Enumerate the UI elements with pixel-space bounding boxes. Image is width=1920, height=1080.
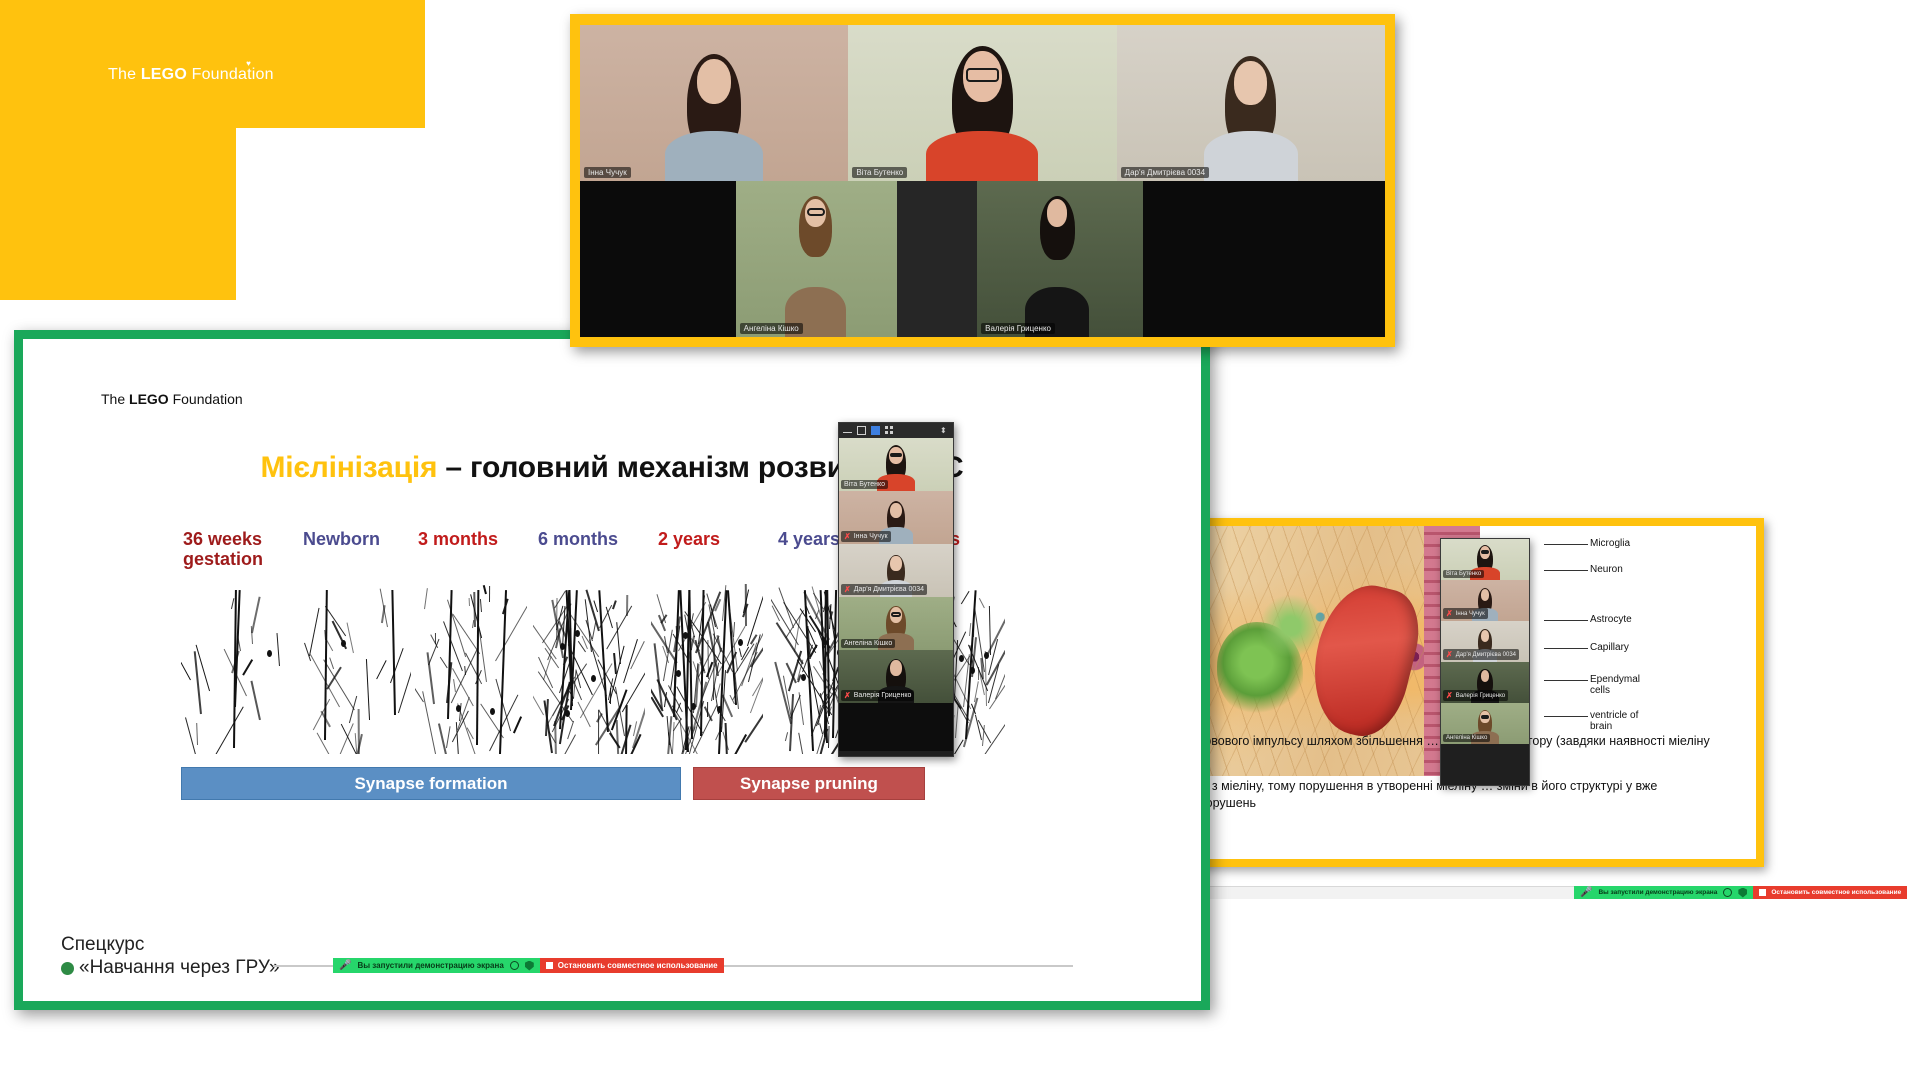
muted-microphone-icon: ✗	[844, 585, 851, 594]
age-label-4: 6 months	[538, 529, 618, 549]
dendrite-column-4	[533, 584, 645, 754]
stop-square-icon	[1759, 889, 1766, 896]
dendrite-column-1	[181, 584, 293, 754]
video-background	[1117, 181, 1144, 337]
diagram-label-5: Ependymalcells	[1590, 674, 1640, 696]
participant-video-frame	[848, 25, 1116, 181]
participant-name-label: Віта Бутенко	[841, 480, 888, 489]
face-shape	[697, 59, 731, 104]
participant-video-frame	[848, 181, 896, 337]
green-slide-paper: The LEGO Foundation Мієлінізація – голов…	[23, 339, 1201, 1001]
face-shape	[1047, 199, 1067, 227]
record-icon-2[interactable]	[510, 961, 519, 970]
logo-prefix-2: The	[101, 391, 129, 407]
muted-microphone-icon: ✗	[1446, 650, 1453, 659]
video-background	[848, 181, 896, 337]
torso-shape	[926, 131, 1038, 181]
participant-name-text: Ангеліна Кішко	[1446, 735, 1487, 741]
bullet-dot-icon-2	[61, 962, 74, 975]
face-shape	[1234, 61, 1267, 105]
eyeglasses-icon	[890, 453, 901, 458]
participant-name-text: Інна Чучук	[588, 168, 627, 177]
participant-name-text: Віта Бутенко	[844, 481, 885, 488]
participant-video-frame	[1117, 25, 1385, 181]
participant-name-text: Ангеліна Кішко	[744, 324, 799, 333]
logo-brand: LEGO	[141, 66, 187, 83]
gallery-view-window[interactable]: Інна ЧучукВіта БутенкоДар'я Дмитрієва 00…	[570, 14, 1395, 347]
filmstrip-tile[interactable]: ✗Інна Чучук	[1441, 580, 1529, 621]
diagram-label-3: Astrocyte	[1590, 614, 1632, 625]
age-label-5: 2 years	[658, 529, 720, 549]
participant-name-label: Ангеліна Кішко	[841, 639, 895, 648]
logo-prefix: The	[108, 66, 141, 83]
filmstrip-tile[interactable]: Ангеліна Кішко	[839, 597, 953, 650]
synapse-formation-label: Synapse formation	[354, 774, 507, 794]
video-tile-continued[interactable]	[1117, 181, 1144, 337]
lego-intro-slide: The LEGO Foundation	[0, 0, 425, 300]
diagram-label-6: ventricle ofbrain	[1590, 710, 1638, 732]
diagram-label-1: Microglia	[1590, 538, 1630, 549]
video-tile[interactable]: Ангеліна Кішко	[736, 181, 849, 337]
participant-name-text: Валерія Гриценко	[1456, 693, 1505, 699]
gallery-view-icon[interactable]	[885, 426, 894, 435]
filmstrip-tile[interactable]: ✗Дар'я Дмитрієва 0034	[839, 544, 953, 597]
record-icon[interactable]	[1723, 888, 1732, 897]
filmstrip-tile[interactable]: ✗Валерія Гриценко	[1441, 662, 1529, 703]
participant-name-label: ✗Дар'я Дмитрієва 0034	[1443, 649, 1519, 660]
video-tile[interactable]: Віта Бутенко	[848, 25, 1116, 181]
lego-foundation-logo-dark: The LEGO Foundation	[101, 391, 243, 407]
filmstrip-tile[interactable]: ✗Валерія Гриценко	[839, 650, 953, 703]
dendrite-column-3	[415, 584, 527, 754]
green-share-toolbar[interactable]: 🎤 Вы запустили демонстрацию экрана Остан…	[333, 958, 724, 973]
yellow-banner-leg	[0, 128, 236, 300]
participant-name-label: ✗Дар'я Дмитрієва 0034	[841, 584, 927, 595]
filmstrip-tile[interactable]: Віта Бутенко	[1441, 539, 1529, 580]
synapse-pruning-bar: Synapse pruning	[693, 767, 925, 800]
face-shape	[1481, 630, 1490, 642]
face-shape	[890, 503, 902, 518]
participant-name-text: Дар'я Дмитрієва 0034	[1125, 168, 1205, 177]
participant-name-text: Валерія Гриценко	[985, 324, 1051, 333]
page-title-accent: Мієлінізація	[260, 451, 437, 484]
participant-name-label: Валерія Гриценко	[981, 323, 1055, 334]
age-label-6: 4 years	[778, 529, 840, 549]
age-label-3: 3 months	[418, 529, 498, 549]
filmstrip-empty-tile[interactable]	[839, 703, 953, 751]
age-label-1: 36 weeksgestation	[183, 529, 263, 569]
participant-name-text: Валерія Гриценко	[854, 692, 912, 699]
face-shape	[1481, 589, 1490, 601]
video-tile[interactable]: Дар'я Дмитрієва 0034	[1117, 25, 1385, 181]
share-status-label: Вы запустили демонстрацию экрана	[1598, 889, 1717, 896]
stop-share-label-2: Остановить совместное использование	[558, 961, 718, 970]
eyeglasses-icon	[1481, 715, 1489, 719]
eyeglasses-icon	[807, 208, 825, 216]
dendrite-column-5	[651, 584, 763, 754]
muted-microphone-icon: ✗	[844, 691, 851, 700]
participant-name-label: Ангеліна Кішко	[740, 323, 803, 334]
window-icon[interactable]	[857, 426, 866, 435]
face-shape	[890, 556, 901, 571]
participant-name-label: Ангеліна Кішко	[1443, 734, 1490, 742]
participant-name-text: Дар'я Дмитрієва 0034	[854, 586, 924, 593]
participant-name-label: Віта Бутенко	[852, 167, 907, 178]
muted-microphone-icon: ✗	[1446, 691, 1453, 700]
participant-name-label: Віта Бутенко	[1443, 570, 1484, 578]
stop-share-button[interactable]: Остановить совместное использование	[1753, 886, 1907, 899]
logo-suffix-2: Foundation	[169, 391, 243, 407]
participant-name-text: Віта Бутенко	[856, 168, 903, 177]
microphone-icon: 🎤	[1580, 887, 1592, 898]
video-tile-continued[interactable]	[848, 181, 896, 337]
stop-share-label: Остановить совместное использование	[1771, 889, 1901, 896]
video-tile[interactable]: Валерія Гриценко	[977, 181, 1117, 337]
filmstrip-titlebar[interactable]: ⬍	[839, 423, 953, 438]
participant-name-label: ✗Інна Чучук	[1443, 608, 1488, 619]
yellow-banner-top	[0, 0, 425, 128]
torso-shape	[1204, 131, 1298, 181]
stop-share-button-2[interactable]: Остановить совместное использование	[540, 958, 724, 973]
face-shape	[890, 660, 902, 676]
filmstrip-tile[interactable]: ✗Інна Чучук	[839, 491, 953, 544]
video-tile[interactable]	[1117, 181, 1385, 337]
lego-foundation-logo: The LEGO Foundation	[108, 66, 274, 84]
shield-icon-2[interactable]	[525, 961, 534, 971]
participant-name-label: ✗Валерія Гриценко	[1443, 690, 1508, 701]
right-share-toolbar[interactable]: 🎤 Вы запустили демонстрацию экрана Остан…	[1574, 886, 1907, 899]
center-participants-filmstrip[interactable]: ⬍ Віта Бутенко✗Інна Чучук✗Дар'я Дмитрієв…	[838, 422, 954, 757]
footer-line-2b: «Навчання через ГРУ»	[79, 957, 280, 978]
video-tile[interactable]: Ангеліна Кішко	[580, 181, 848, 337]
filmstrip-tile[interactable]: Ангеліна Кішко	[1441, 703, 1529, 744]
speaker-view-icon[interactable]	[871, 426, 880, 435]
center-filmstrip-list: Віта Бутенко✗Інна Чучук✗Дар'я Дмитрієва …	[839, 438, 953, 751]
logo-brand-2: LEGO	[129, 391, 169, 407]
footer-line-1b: Спецкурс	[61, 933, 280, 956]
logo-suffix: Foundation	[187, 66, 274, 83]
age-label-2: Newborn	[303, 529, 380, 549]
muted-microphone-icon: ✗	[844, 532, 851, 541]
participant-video-frame	[736, 181, 849, 337]
eyeglasses-icon	[966, 68, 1000, 82]
minimize-icon[interactable]	[843, 428, 852, 433]
share-status-label-2: Вы запустили демонстрацию экрана	[357, 961, 503, 970]
participant-name-label: Дар'я Дмитрієва 0034	[1121, 167, 1209, 178]
participant-name-text: Віта Бутенко	[1446, 571, 1481, 577]
synapse-formation-bar: Synapse formation	[181, 767, 681, 800]
filmstrip-tile[interactable]: ✗Дар'я Дмитрієва 0034	[1441, 621, 1529, 662]
diagram-label-4: Capillary	[1590, 642, 1629, 653]
filmstrip-tile[interactable]: Віта Бутенко	[839, 438, 953, 491]
green-slide-footer-course: Спецкурс «Навчання через ГРУ»	[61, 933, 280, 979]
stop-square-icon-2	[546, 962, 553, 969]
right-filmstrip-list: Віта Бутенко✗Інна Чучук✗Дар'я Дмитрієва …	[1441, 539, 1529, 744]
myelination-presentation-window[interactable]: The LEGO Foundation Мієлінізація – голов…	[14, 330, 1210, 1010]
participant-name-label: ✗Валерія Гриценко	[841, 690, 914, 701]
video-tile-grid: Інна ЧучукВіта БутенкоДар'я Дмитрієва 00…	[580, 25, 1385, 337]
participant-name-text: Інна Чучук	[854, 533, 888, 540]
empty-video-tile[interactable]	[897, 181, 977, 337]
expand-icon[interactable]: ⬍	[940, 426, 949, 435]
eyeglasses-icon	[891, 612, 901, 616]
right-participants-filmstrip[interactable]: Віта Бутенко✗Інна Чучук✗Дар'я Дмитрієва …	[1440, 538, 1530, 786]
participant-name-text: Дар'я Дмитрієва 0034	[1456, 652, 1516, 658]
participant-video-frame	[977, 181, 1117, 337]
participant-name-text: Ангеліна Кішко	[844, 640, 892, 647]
dendrite-column-2	[299, 584, 411, 754]
torso-shape	[665, 131, 764, 181]
participant-name-label: Інна Чучук	[584, 167, 631, 178]
participant-video-frame	[580, 25, 848, 181]
synapse-pruning-label: Synapse pruning	[740, 774, 878, 794]
video-tile[interactable]: Інна Чучук	[580, 25, 848, 181]
participant-name-label: ✗Інна Чучук	[841, 531, 891, 542]
participant-name-text: Інна Чучук	[1456, 611, 1485, 617]
share-status-chip[interactable]: 🎤 Вы запустили демонстрацию экрана	[1574, 886, 1753, 899]
muted-microphone-icon: ✗	[1446, 609, 1453, 618]
shield-icon[interactable]	[1738, 888, 1747, 898]
participant-video-frame	[1117, 181, 1144, 337]
video-tile[interactable]: Валерія Гриценко	[848, 181, 1116, 337]
microphone-icon-2: 🎤	[339, 960, 351, 971]
share-status-chip-2[interactable]: 🎤 Вы запустили демонстрацию экрана	[333, 958, 540, 973]
diagram-label-2: Neuron	[1590, 564, 1623, 575]
page-title: Мієлінізація – головний механізм розвитк…	[23, 451, 1201, 485]
